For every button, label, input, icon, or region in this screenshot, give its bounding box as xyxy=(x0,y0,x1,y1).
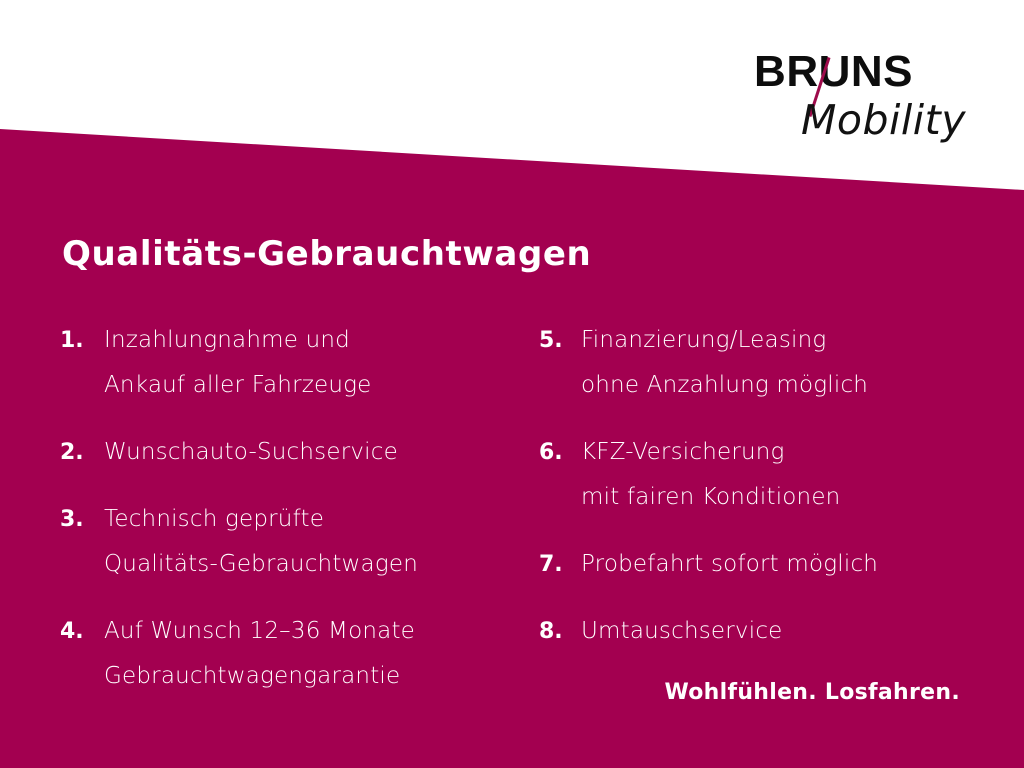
list-item-number: 8. xyxy=(539,609,581,654)
page-title: Qualitäts-Gebrauchtwagen xyxy=(62,234,591,274)
list-item-line: Auf Wunsch 12–36 Monate xyxy=(104,609,520,654)
slide-canvas: BRUNS Mobility Qualitäts-Gebrauchtwagen … xyxy=(0,0,1024,768)
list-item-line: Probefahrt sofort möglich xyxy=(581,542,979,587)
list-item-line: Qualitäts-Gebrauchtwagen xyxy=(104,542,520,587)
list-item-text: Inzahlungnahme und Ankauf aller Fahrzeug… xyxy=(104,318,520,408)
list-item-line: Wunschauto-Suchservice xyxy=(104,430,520,475)
list-item-number: 5. xyxy=(539,318,581,363)
list-item-number: 6. xyxy=(539,430,581,475)
list-item-line: Finanzierung/Leasing xyxy=(581,318,979,363)
list-item-line: ohne Anzahlung möglich xyxy=(581,363,979,408)
feature-list-right-column: 5. Finanzierung/Leasing ohne Anzahlung m… xyxy=(539,318,979,676)
list-item-line: Gebrauchtwagengarantie xyxy=(104,654,520,699)
list-item: 5. Finanzierung/Leasing ohne Anzahlung m… xyxy=(539,318,979,408)
list-item: 2. Wunschauto-Suchservice xyxy=(60,430,520,475)
feature-list-left-column: 1. Inzahlungnahme und Ankauf aller Fahrz… xyxy=(60,318,520,721)
list-item: 1. Inzahlungnahme und Ankauf aller Fahrz… xyxy=(60,318,520,408)
list-item-line: mit fairen Konditionen xyxy=(581,475,979,520)
list-item: 6. KFZ-Versicherung mit fairen Kondition… xyxy=(539,430,979,520)
list-item: 4. Auf Wunsch 12–36 Monate Gebrauchtwage… xyxy=(60,609,520,699)
list-item-number: 7. xyxy=(539,542,581,587)
list-item-number: 3. xyxy=(60,497,104,542)
list-item-line: Ankauf aller Fahrzeuge xyxy=(104,363,520,408)
tagline: Wohlfühlen. Losfahren. xyxy=(664,680,960,705)
list-item-text: Technisch geprüfte Qualitäts-Gebrauchtwa… xyxy=(104,497,520,587)
list-item-text: Wunschauto-Suchservice xyxy=(104,430,520,475)
list-item-line: KFZ-Versicherung xyxy=(581,430,979,475)
list-item-text: Probefahrt sofort möglich xyxy=(581,542,979,587)
list-item-text: Auf Wunsch 12–36 Monate Gebrauchtwagenga… xyxy=(104,609,520,699)
list-item: 3. Technisch geprüfte Qualitäts-Gebrauch… xyxy=(60,497,520,587)
list-item: 7. Probefahrt sofort möglich xyxy=(539,542,979,587)
list-item-text: Finanzierung/Leasing ohne Anzahlung mögl… xyxy=(581,318,979,408)
list-item-number: 2. xyxy=(60,430,104,475)
list-item-line: Umtauschservice xyxy=(581,609,979,654)
list-item-line: Inzahlungnahme und xyxy=(104,318,520,363)
list-item-number: 4. xyxy=(60,609,104,654)
list-item-text: Umtauschservice xyxy=(581,609,979,654)
list-item-text: KFZ-Versicherung mit fairen Konditionen xyxy=(581,430,979,520)
list-item: 8. Umtauschservice xyxy=(539,609,979,654)
logo-subbrand-text: Mobility xyxy=(646,96,966,144)
logo-brand-text: BRUNS xyxy=(646,48,966,96)
list-item-number: 1. xyxy=(60,318,104,363)
brand-logo: BRUNS Mobility xyxy=(646,48,966,148)
list-item-line: Technisch geprüfte xyxy=(104,497,520,542)
